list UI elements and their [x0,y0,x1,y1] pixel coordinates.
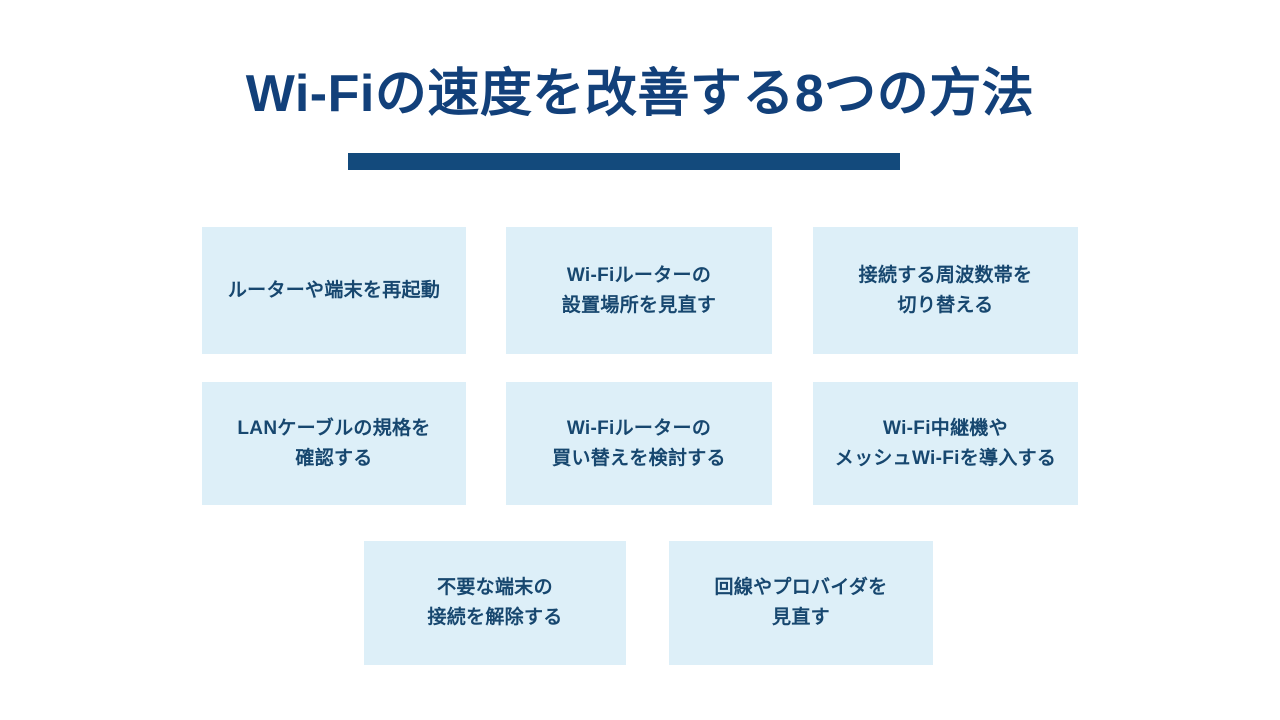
method-box-3[interactable]: 接続する周波数帯を 切り替える [813,227,1078,354]
method-box-5[interactable]: Wi-Fiルーターの 買い替えを検討する [506,382,772,505]
method-box-4[interactable]: LANケーブルの規格を 確認する [202,382,466,505]
method-box-6-label: Wi-Fi中継機や メッシュWi-Fiを導入する [835,414,1056,474]
method-box-8-label: 回線やプロバイダを 見直す [715,573,888,633]
slide-canvas: Wi-Fiの速度を改善する8つの方法 ルーターや端末を再起動 Wi-Fiルーター… [0,0,1280,720]
method-box-4-label: LANケーブルの規格を 確認する [237,414,430,474]
method-box-7-label: 不要な端末の 接続を解除する [427,573,562,633]
method-box-3-label: 接続する周波数帯を 切り替える [859,261,1033,321]
method-box-1[interactable]: ルーターや端末を再起動 [202,227,466,354]
method-box-6[interactable]: Wi-Fi中継機や メッシュWi-Fiを導入する [813,382,1078,505]
page-title: Wi-Fiの速度を改善する8つの方法 [0,62,1280,126]
method-box-2-label: Wi-Fiルーターの 設置場所を見直す [562,261,716,321]
method-box-5-label: Wi-Fiルーターの 買い替えを検討する [552,414,726,474]
method-box-1-label: ルーターや端末を再起動 [228,276,440,306]
method-box-7[interactable]: 不要な端末の 接続を解除する [364,541,626,665]
method-box-2[interactable]: Wi-Fiルーターの 設置場所を見直す [506,227,772,354]
title-block: Wi-Fiの速度を改善する8つの方法 [0,62,1280,126]
title-underline-rule [348,153,900,170]
method-box-8[interactable]: 回線やプロバイダを 見直す [669,541,933,665]
